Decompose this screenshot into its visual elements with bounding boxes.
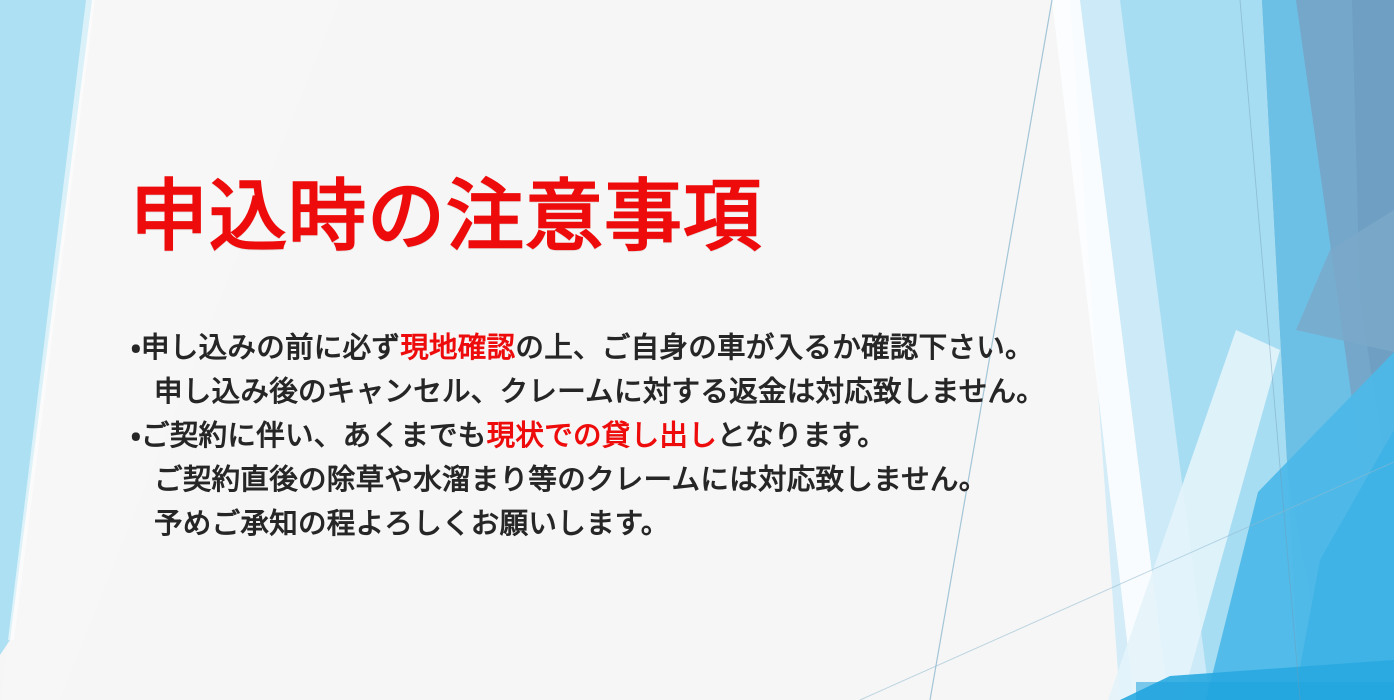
body-line-3-segment-red: 現状での貸し出し [487,420,717,452]
right-facet-steel-lower-wedge [1296,210,1394,352]
bottom-cyan-band [1120,660,1394,700]
bullet-marker-3: ・ [131,420,141,452]
left-wedge-highlight [8,0,95,640]
hairline-diagonal-right [1240,0,1300,700]
presentation-slide: 申込時の注意事項 ・申し込みの前に必ず現地確認の上、ご自身の車が入るか確認下さい… [0,0,1394,700]
body-line-2: 申し込み後のキャンセル、クレームに対する返金は対応致しません。 [131,370,1151,414]
right-facet-cyan-bright-corner [1294,430,1394,700]
bottom-edge-band [1136,682,1394,700]
right-facet-steel-far [1352,0,1394,520]
body-line-1-segment-red: 現地確認 [400,332,515,364]
page-title: 申込時の注意事項 [130,176,1030,257]
right-facet-steel-outer [1226,0,1394,700]
body-line-5-segment-black-1: 予めご承知の程よろしくお願いします。 [154,508,670,540]
body-line-1-segment-black-2: の上、ご自身の車が入るか確認下さい。 [515,332,1033,364]
right-facet-cyan-lower [1206,352,1394,700]
right-facet-cyan-mid [1262,0,1394,700]
body-line-5: 予めご承知の程よろしくお願いします。 [131,502,1151,546]
body-line-4: ご契約直後の除草や水溜まり等のクレームには対応致しません。 [131,458,1151,502]
body-text-block: ・申し込みの前に必ず現地確認の上、ご自身の車が入るか確認下さい。 申し込み後のキ… [131,326,1151,546]
title-block: 申込時の注意事項 [130,176,1030,257]
bullet-marker-1: ・ [131,332,141,364]
body-line-1-segment-black-1: 申し込みの前に必ず [141,332,400,364]
left-blue-wedge [0,0,92,655]
body-line-4-segment-black-1: ご契約直後の除草や水溜まり等のクレームには対応致しません。 [154,464,988,496]
body-line-3: ・ご契約に伴い、あくまでも現状での貸し出しとなります。 [131,414,1151,458]
body-line-1: ・申し込みの前に必ず現地確認の上、ご自身の車が入るか確認下さい。 [131,326,1151,370]
body-line-2-segment-black-1: 申し込み後のキャンセル、クレームに対する返金は対応致しません。 [154,376,1045,408]
body-line-3-segment-black-1: ご契約に伴い、あくまでも [141,420,487,452]
body-line-3-segment-black-2: となります。 [717,420,886,452]
